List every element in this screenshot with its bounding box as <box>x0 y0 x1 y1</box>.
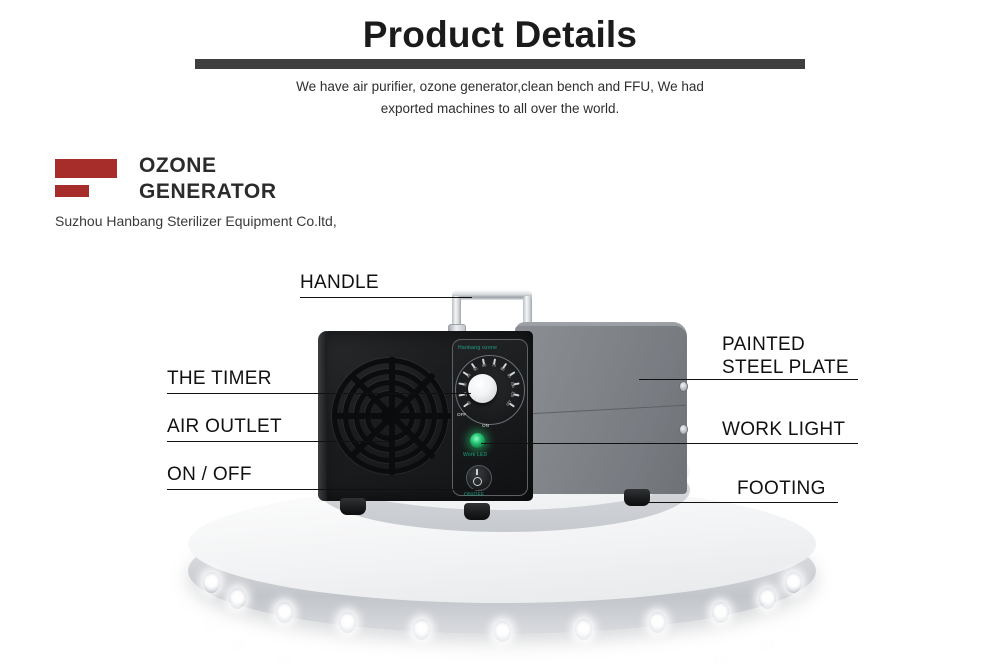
callout-painted-steel-line-1: PAINTED <box>722 333 849 356</box>
subtitle-line-2: exported machines to all over the world. <box>200 98 800 120</box>
pedestal-light <box>785 572 802 593</box>
power-button-label: ON/OFF <box>464 492 484 498</box>
power-off-mark-icon <box>473 477 482 486</box>
leader-line-handle <box>300 297 472 298</box>
dial-number-7: 70 <box>489 363 498 368</box>
pedestal-light-reflection <box>230 637 245 653</box>
company-name: Suzhou Hanbang Sterilizer Equipment Co.l… <box>55 213 337 229</box>
subtitle-line-1: We have air purifier, ozone generator,cl… <box>200 76 800 98</box>
title-divider <box>195 59 805 69</box>
footing-front-right <box>464 503 490 520</box>
pedestal-light <box>575 619 592 640</box>
work-led-label: Work LED <box>463 452 487 458</box>
brand-block: OZONE GENERATOR Suzhou Hanbang Sterilize… <box>55 155 655 245</box>
brand-name: OZONE GENERATOR <box>139 153 277 205</box>
callout-handle: HANDLE <box>300 272 379 294</box>
logo-bar-bottom <box>55 185 89 197</box>
dial-number-6: 60 <box>480 363 489 368</box>
pedestal-light <box>339 612 356 633</box>
pedestal-light-reflection <box>760 637 775 653</box>
page-subtitle: We have air purifier, ozone generator,cl… <box>200 76 800 120</box>
pedestal-light <box>712 602 729 623</box>
callout-air-outlet: AIR OUTLET <box>167 416 282 438</box>
dial-on-label: ON <box>482 423 489 428</box>
brand-name-line-1: OZONE <box>139 153 277 179</box>
work-light-led <box>470 433 485 448</box>
product-details-page: Product Details We have air purifier, oz… <box>0 0 1000 664</box>
timer-knob[interactable] <box>468 374 497 403</box>
grille-hub <box>381 407 399 425</box>
pedestal-light <box>494 621 511 642</box>
pedestal-light-reflection <box>277 654 292 664</box>
front-face-edge <box>318 331 327 501</box>
leader-line-work-light <box>481 443 858 444</box>
footing-rear-right <box>624 489 650 506</box>
callout-work-light: WORK LIGHT <box>722 419 845 441</box>
pedestal-light-reflection <box>713 654 728 664</box>
handle-icon <box>452 290 532 300</box>
page-title: Product Details <box>0 14 1000 56</box>
callout-on-off: ON / OFF <box>167 464 252 486</box>
air-outlet-grille-icon <box>331 355 449 477</box>
dial-number-11: 110 <box>510 390 516 399</box>
brand-name-line-2: GENERATOR <box>139 179 277 205</box>
pedestal-light <box>276 602 293 623</box>
pedestal-light <box>759 588 776 609</box>
pedestal-light <box>413 619 430 640</box>
power-on-mark-icon <box>476 469 478 475</box>
brand-logo-icon <box>55 159 117 204</box>
callout-painted-steel-plate: PAINTED STEEL PLATE <box>722 333 849 379</box>
dial-number-10: 100 <box>510 380 515 389</box>
footing-front-left <box>340 498 366 515</box>
dial-off-label: OFF <box>457 412 466 417</box>
callout-painted-steel-line-2: STEEL PLATE <box>722 356 849 379</box>
panel-brand-text: Hanbang ozone <box>458 345 497 351</box>
leader-line-on-off <box>167 489 478 490</box>
logo-bar-top <box>55 159 117 178</box>
leader-line-air-outlet <box>167 441 389 442</box>
callout-the-timer: THE TIMER <box>167 368 272 390</box>
body-screw-upper <box>679 381 688 392</box>
leader-line-footing <box>640 502 838 503</box>
leader-line-the-timer <box>167 393 471 394</box>
leader-line-painted-steel-plate <box>639 379 858 380</box>
body-screw-lower <box>679 424 688 435</box>
callout-footing: FOOTING <box>737 478 826 500</box>
